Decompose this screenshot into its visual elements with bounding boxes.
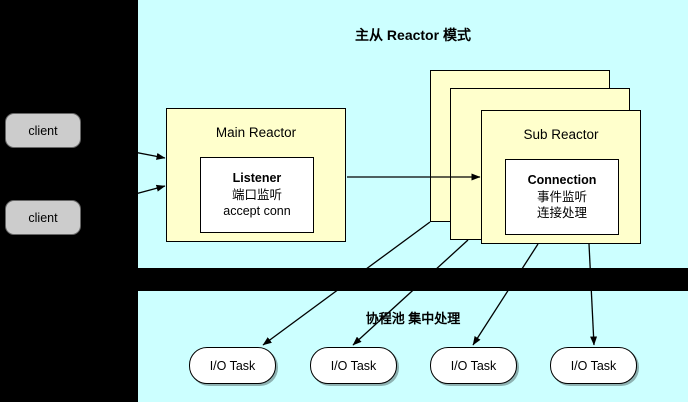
client-box-2[interactable]: client — [5, 200, 81, 235]
sub-reactor-box[interactable]: Sub Reactor Connection 事件监听 连接处理 — [481, 110, 641, 244]
listener-box[interactable]: Listener 端口监听 accept conn — [200, 157, 314, 233]
listener-title: Listener — [233, 170, 282, 187]
io-task-4[interactable]: I/O Task — [550, 347, 637, 384]
listener-line-2: accept conn — [223, 203, 290, 220]
listener-line-1: 端口监听 — [232, 187, 282, 204]
main-reactor-title: Main Reactor — [167, 125, 345, 140]
diagram-canvas: 主从 Reactor 模式 client client Main Reactor… — [0, 0, 688, 402]
connection-title: Connection — [528, 172, 597, 189]
coroutine-pool-title: 协程池 集中处理 — [138, 308, 688, 327]
io-task-3[interactable]: I/O Task — [430, 347, 517, 384]
connection-line-1: 事件监听 — [537, 189, 587, 206]
sub-reactor-title: Sub Reactor — [482, 127, 640, 142]
io-task-2[interactable]: I/O Task — [310, 347, 397, 384]
io-task-1[interactable]: I/O Task — [189, 347, 276, 384]
client-box-1[interactable]: client — [5, 113, 81, 148]
diagram-title: 主从 Reactor 模式 — [138, 25, 688, 45]
main-reactor-box[interactable]: Main Reactor Listener 端口监听 accept conn — [166, 108, 346, 242]
connection-line-2: 连接处理 — [537, 205, 587, 222]
connection-box[interactable]: Connection 事件监听 连接处理 — [505, 159, 619, 235]
